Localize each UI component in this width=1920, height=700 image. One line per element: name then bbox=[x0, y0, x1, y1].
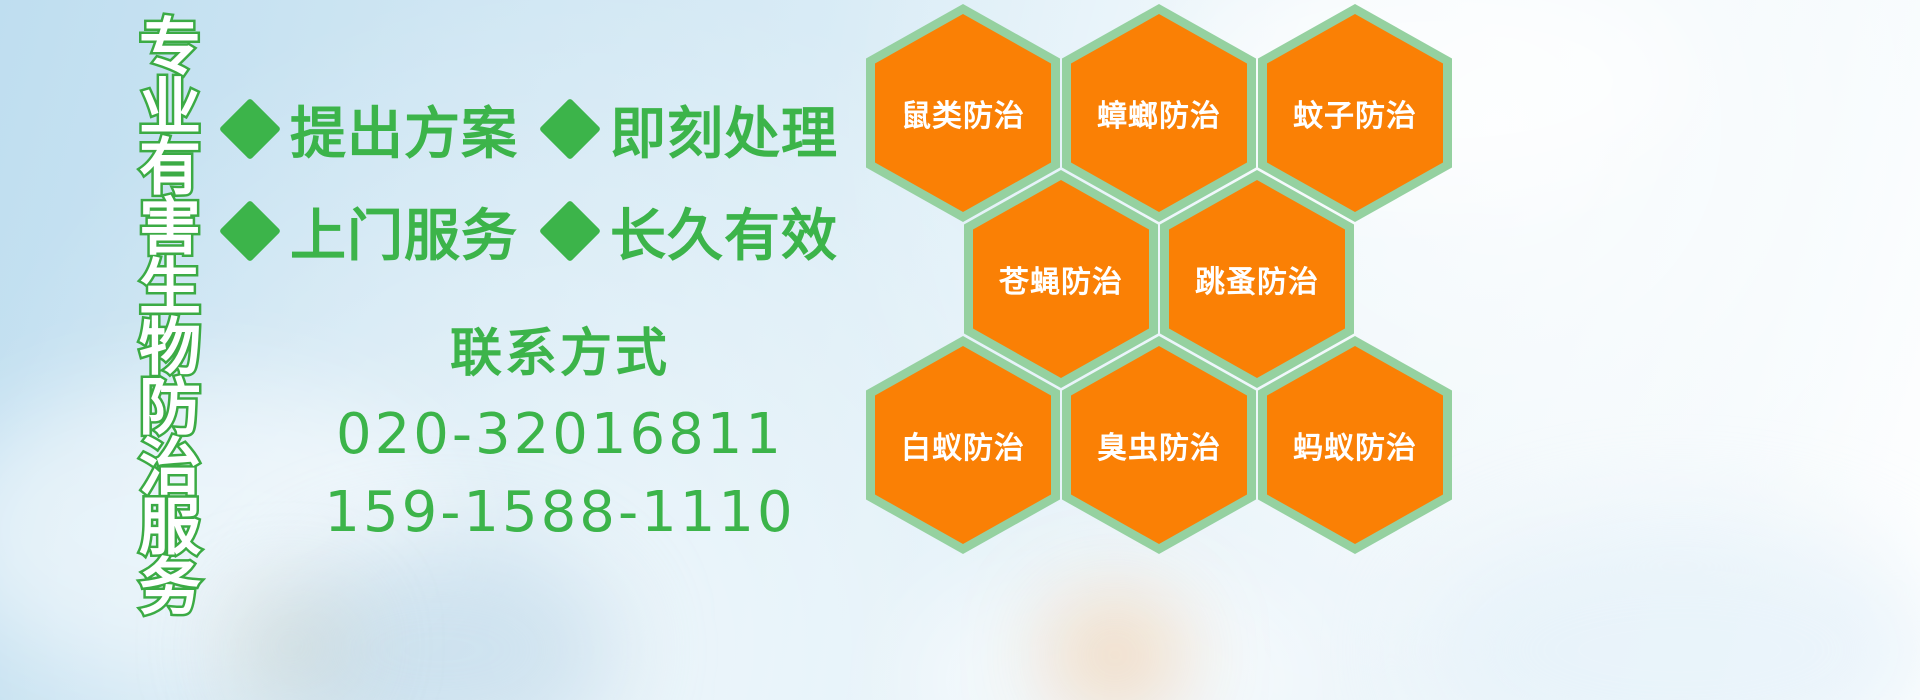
service-honeycomb: 鼠类防治 蟑螂防治 蚊子防治 苍蝇防治 跳蚤防治 白蚁防治 臭虫防治 蚂蚁防治 bbox=[862, 0, 1462, 560]
feature-row: 提出方案 即刻处理 bbox=[228, 78, 868, 180]
phone-number-landline[interactable]: 020-32016811 bbox=[300, 396, 820, 474]
phone-number-mobile[interactable]: 159-1588-1110 bbox=[300, 474, 820, 552]
feature-row: 上门服务 长久有效 bbox=[228, 180, 868, 282]
service-label: 蟑螂防治 bbox=[1097, 91, 1221, 135]
feature-label: 即刻处理 bbox=[610, 89, 838, 170]
diamond-bullet-icon bbox=[219, 200, 281, 262]
diamond-bullet-icon bbox=[539, 200, 601, 262]
feature-item: 上门服务 bbox=[228, 191, 518, 272]
diamond-bullet-icon bbox=[539, 98, 601, 160]
vertical-headline: 专业有害生物防治服务 bbox=[112, 14, 216, 546]
feature-item: 长久有效 bbox=[548, 191, 838, 272]
background-blur-blob bbox=[230, 600, 350, 690]
service-label: 白蚁防治 bbox=[901, 423, 1025, 467]
feature-label: 提出方案 bbox=[290, 89, 518, 170]
service-label: 跳蚤防治 bbox=[1195, 257, 1319, 301]
feature-list: 提出方案 即刻处理 上门服务 长久有效 bbox=[228, 78, 868, 282]
service-label: 臭虫防治 bbox=[1097, 423, 1221, 467]
background-blur-blob bbox=[1420, 520, 1920, 700]
feature-item: 提出方案 bbox=[228, 89, 518, 170]
feature-label: 上门服务 bbox=[290, 191, 518, 272]
service-label: 蚂蚁防治 bbox=[1293, 423, 1417, 467]
service-label: 苍蝇防治 bbox=[999, 257, 1123, 301]
contact-title: 联系方式 bbox=[300, 318, 820, 390]
feature-label: 长久有效 bbox=[610, 191, 838, 272]
background-blur-blob bbox=[1050, 600, 1180, 700]
feature-item: 即刻处理 bbox=[548, 89, 838, 170]
background-blur-blob bbox=[260, 540, 620, 700]
diamond-bullet-icon bbox=[219, 98, 281, 160]
service-label: 蚊子防治 bbox=[1293, 91, 1417, 135]
promo-banner: 专业有害生物防治服务 提出方案 即刻处理 上门服务 长久有效 联系方式 0 bbox=[0, 0, 1920, 700]
contact-block: 联系方式 020-32016811 159-1588-1110 bbox=[300, 318, 820, 552]
service-label: 鼠类防治 bbox=[901, 91, 1025, 135]
background-blur-blob bbox=[900, 560, 1320, 700]
